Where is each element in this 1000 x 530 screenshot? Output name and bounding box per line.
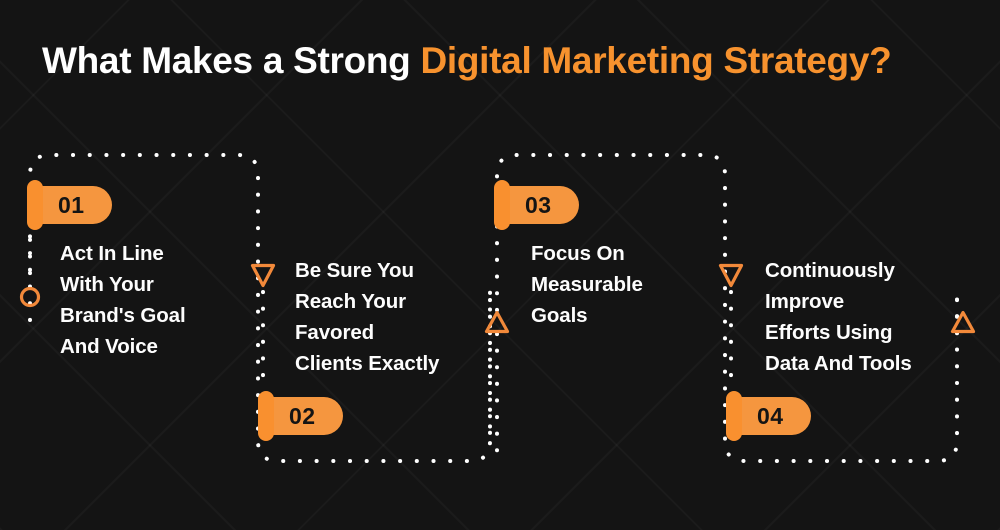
step-badge-bar-01 (27, 180, 43, 230)
page-title-plain: What Makes a Strong (42, 40, 420, 81)
step-number-01: 01 (58, 194, 85, 217)
triangle-down-marker-1 (253, 266, 274, 286)
step-number-03: 03 (525, 194, 552, 217)
step-text-03: Focus On Measurable Goals (531, 238, 726, 331)
step-badge-bar-03 (494, 180, 510, 230)
step-badge-pill-03: 03 (503, 186, 579, 224)
step-badge-bar-02 (258, 391, 274, 441)
infographic-canvas: What Makes a Strong Digital Marketing St… (0, 0, 1000, 530)
page-title-accent: Digital Marketing Strategy? (420, 40, 891, 81)
step-text-01: Act In Line With Your Brand's Goal And V… (60, 238, 245, 362)
step-badge-bar-04 (726, 391, 742, 441)
step-number-02: 02 (289, 405, 316, 428)
step-badge-pill-04: 04 (735, 397, 811, 435)
step-text-02: Be Sure You Reach Your Favored Clients E… (295, 255, 495, 379)
step-number-04: 04 (757, 405, 784, 428)
step-badge-pill-02: 02 (267, 397, 343, 435)
step-text-04: Continuously Improve Efforts Using Data … (765, 255, 980, 379)
page-title: What Makes a Strong Digital Marketing St… (42, 40, 891, 82)
step-badge-pill-01: 01 (36, 186, 112, 224)
